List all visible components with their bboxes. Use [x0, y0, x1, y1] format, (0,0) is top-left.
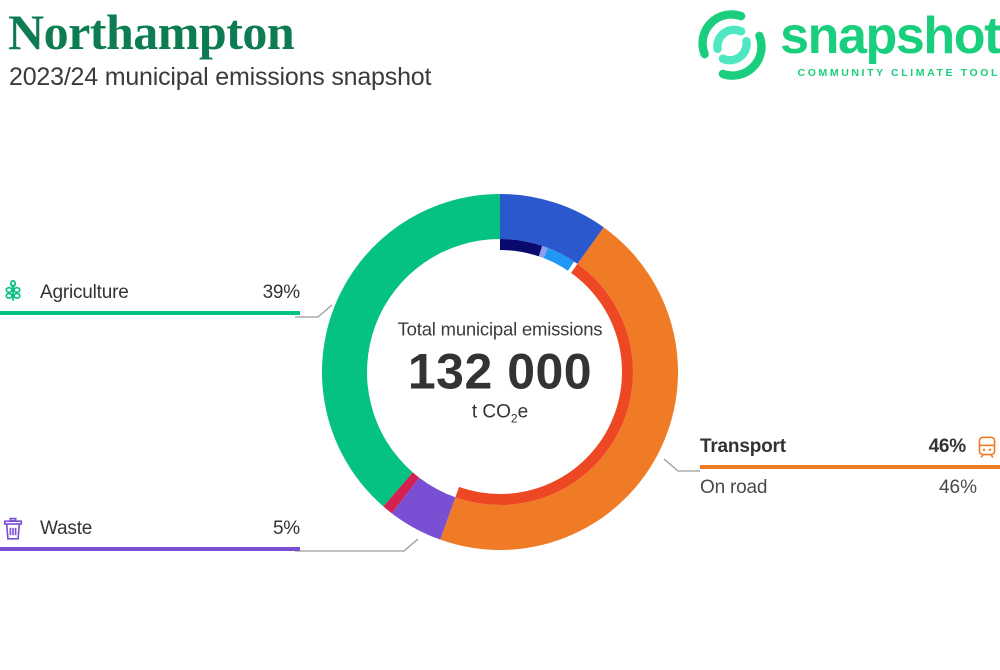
tram-icon [974, 434, 1000, 460]
legend-transport-sub-row[interactable]: On road 46% [700, 477, 977, 499]
legend-agriculture-percent: 39% [263, 282, 300, 304]
legend-transport-rule [700, 465, 1000, 469]
emissions-donut-chart: Total municipal emissions 132 000 t CO2e [0, 0, 1000, 670]
legend-waste-rule [0, 547, 300, 551]
dashboard-canvas: Northampton 2023/24 municipal emissions … [0, 0, 1000, 670]
legend-transport-percent: 46% [929, 436, 966, 458]
legend-agriculture-rule [0, 311, 300, 315]
legend-transport-label: Transport [700, 436, 786, 458]
legend-agriculture[interactable]: Agriculture 39% [0, 280, 300, 315]
wheat-icon [0, 280, 26, 306]
legend-transport-sub-label: On road [700, 477, 767, 499]
legend-waste-label: Waste [40, 518, 92, 540]
legend-waste[interactable]: Waste 5% [0, 516, 300, 551]
donut-segment-agriculture[interactable] [322, 194, 500, 506]
legend-transport-sub-percent: 46% [939, 477, 977, 499]
legend-transport[interactable]: Transport 46% On road 46% [700, 434, 1000, 499]
legend-waste-percent: 5% [273, 518, 300, 540]
legend-agriculture-label: Agriculture [40, 282, 129, 304]
legend-agriculture-row: Agriculture 39% [0, 280, 300, 306]
legend-waste-row: Waste 5% [0, 516, 300, 542]
donut-svg [0, 0, 1000, 670]
trash-bin-icon [0, 516, 26, 542]
legend-transport-row: Transport 46% [700, 434, 1000, 460]
